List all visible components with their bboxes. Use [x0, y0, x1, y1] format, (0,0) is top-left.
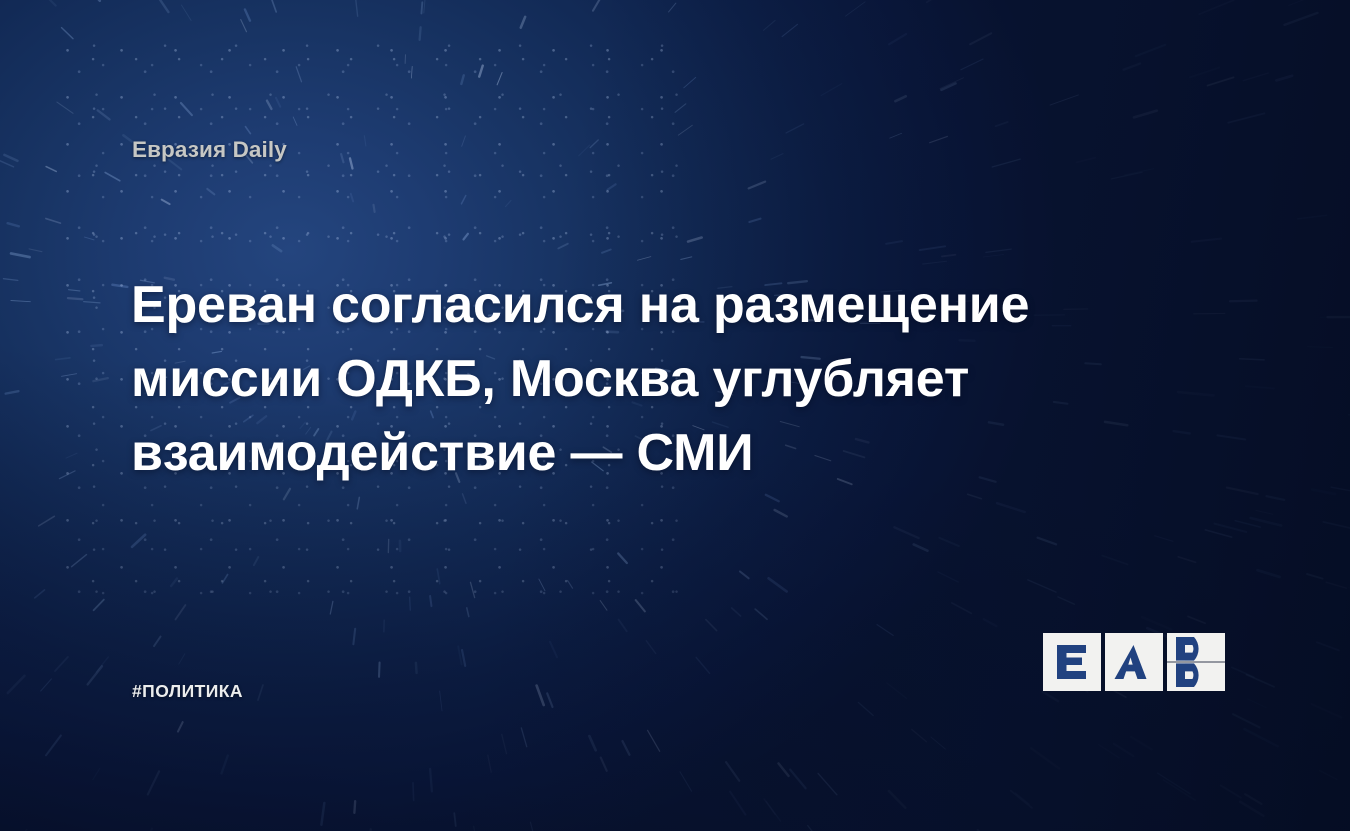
category-tag: #ПОЛИТИКА — [132, 681, 243, 702]
page-title: Ереван согласился на размещение миссии О… — [131, 268, 1091, 490]
share-card: Евразия Daily Ереван согласился на разме… — [0, 0, 1350, 831]
logo-letter-e — [1057, 645, 1086, 679]
eadaily-logo — [1042, 618, 1232, 716]
site-name: Евразия Daily — [132, 137, 287, 163]
